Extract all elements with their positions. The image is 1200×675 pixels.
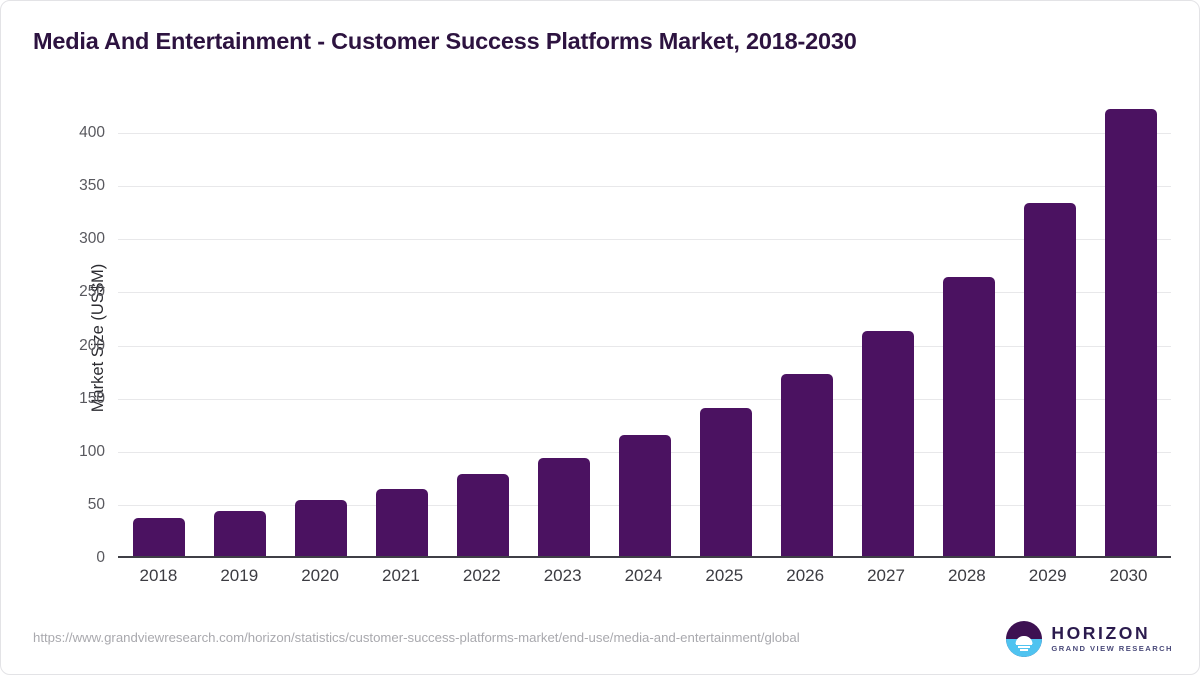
x-tick-label: 2020 — [280, 566, 361, 586]
y-tick-label: 200 — [33, 337, 105, 355]
bar-slot — [361, 97, 442, 556]
x-tick-label: 2019 — [199, 566, 280, 586]
logo-name: HORIZON — [1051, 625, 1173, 643]
bar-2020[interactable] — [295, 500, 347, 556]
bar-slot — [118, 97, 199, 556]
x-tick-label: 2021 — [361, 566, 442, 586]
x-tick-label: 2023 — [522, 566, 603, 586]
bar-2026[interactable] — [781, 374, 833, 556]
bar-series — [118, 97, 1171, 556]
bar-slot — [928, 97, 1009, 556]
y-tick-label: 350 — [33, 177, 105, 195]
bar-2027[interactable] — [862, 331, 914, 556]
x-tick-label: 2018 — [118, 566, 199, 586]
y-tick-label: 400 — [33, 124, 105, 142]
y-tick-label: 250 — [33, 283, 105, 301]
bar-slot — [766, 97, 847, 556]
bar-slot — [280, 97, 361, 556]
x-tick-label: 2030 — [1088, 566, 1169, 586]
y-tick-label: 300 — [33, 230, 105, 248]
bar-2030[interactable] — [1105, 109, 1157, 556]
bar-2023[interactable] — [538, 458, 590, 556]
y-tick-label: 150 — [33, 390, 105, 408]
horizon-logo: HORIZON GRAND VIEW RESEARCH — [1006, 621, 1173, 657]
chart-footer: https://www.grandviewresearch.com/horizo… — [1, 612, 1199, 674]
x-tick-label: 2025 — [684, 566, 765, 586]
x-tick-label: 2026 — [765, 566, 846, 586]
x-axis-line — [118, 556, 1171, 558]
source-url[interactable]: https://www.grandviewresearch.com/horizo… — [33, 630, 800, 645]
y-tick-label: 100 — [33, 443, 105, 461]
logo-text-block: HORIZON GRAND VIEW RESEARCH — [1051, 625, 1173, 653]
horizon-logo-icon — [1006, 621, 1042, 657]
bar-slot — [604, 97, 685, 556]
bar-slot — [523, 97, 604, 556]
bar-slot — [442, 97, 523, 556]
bar-2028[interactable] — [943, 277, 995, 556]
x-tick-label: 2029 — [1007, 566, 1088, 586]
plot-area — [118, 97, 1171, 558]
bar-2021[interactable] — [376, 489, 428, 556]
bar-2025[interactable] — [700, 408, 752, 556]
x-tick-label: 2024 — [603, 566, 684, 586]
bar-2019[interactable] — [214, 511, 266, 556]
x-tick-label: 2027 — [846, 566, 927, 586]
bar-slot — [1090, 97, 1171, 556]
logo-tagline: GRAND VIEW RESEARCH — [1051, 645, 1173, 653]
x-tick-label: 2022 — [441, 566, 522, 586]
bar-slot — [847, 97, 928, 556]
bar-slot — [1009, 97, 1090, 556]
bar-2029[interactable] — [1024, 203, 1076, 556]
bar-2018[interactable] — [133, 518, 185, 556]
bar-2024[interactable] — [619, 435, 671, 556]
x-tick-label: 2028 — [926, 566, 1007, 586]
bar-2022[interactable] — [457, 474, 509, 556]
y-tick-label: 50 — [33, 496, 105, 514]
bar-slot — [685, 97, 766, 556]
y-tick-label: 0 — [33, 549, 105, 567]
bar-slot — [199, 97, 280, 556]
chart-container: Media And Entertainment - Customer Succe… — [0, 0, 1200, 675]
x-axis-tick-labels: 2018201920202021202220232024202520262027… — [118, 566, 1169, 586]
